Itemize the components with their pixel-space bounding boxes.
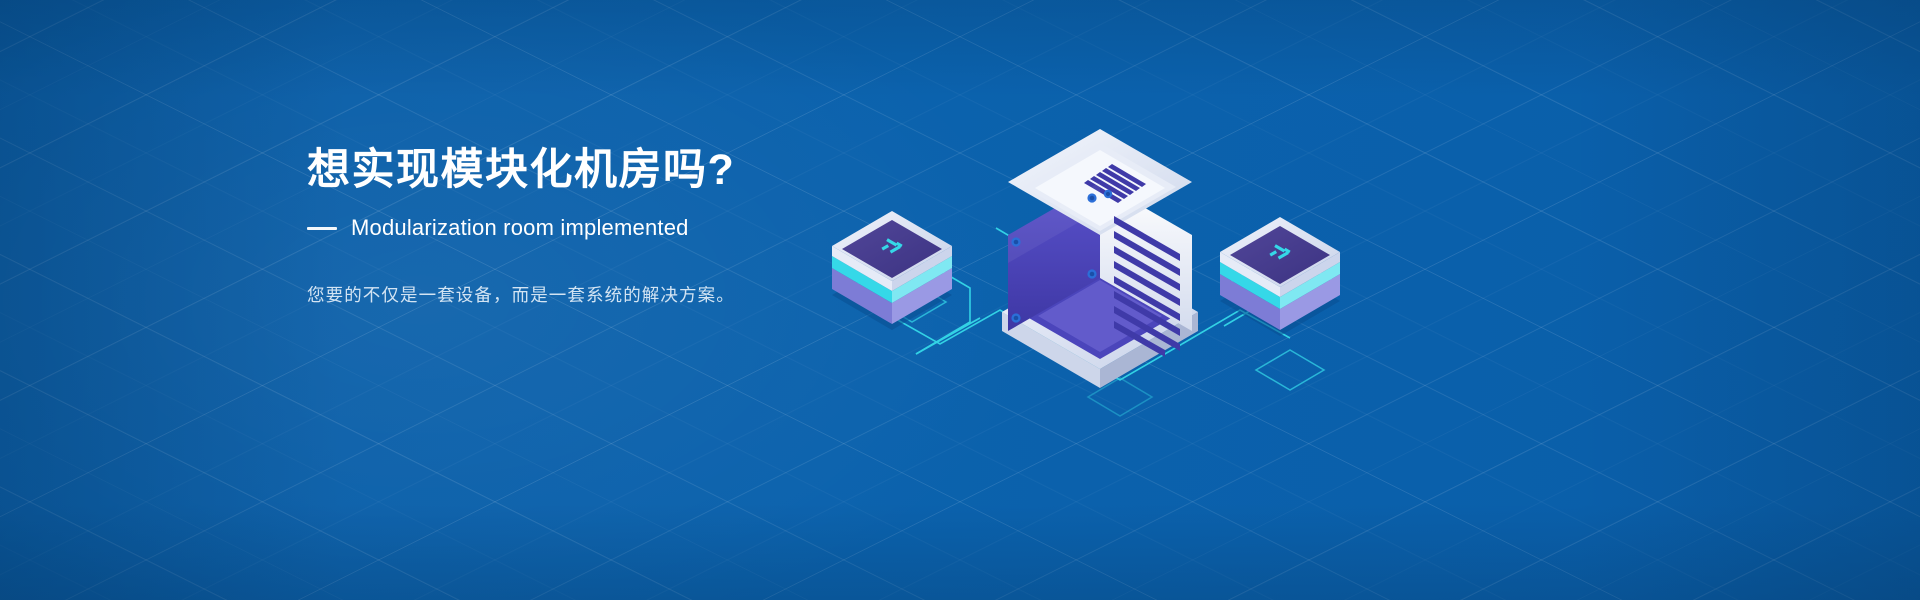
side-screw [1104, 190, 1112, 198]
page-description: 您要的不仅是一套设备，而是一套系统的解决方案。 [307, 281, 1067, 309]
subtitle-row: Modularization room implemented [307, 215, 1067, 241]
page-subtitle: Modularization room implemented [351, 215, 689, 241]
banner-copy: 想实现模块化机房吗? Modularization room implement… [307, 146, 1067, 309]
hero-banner: 想实现模块化机房吗? Modularization room implement… [0, 0, 1920, 600]
subtitle-dash-icon [307, 227, 337, 230]
page-title: 想实现模块化机房吗? [307, 146, 1067, 195]
